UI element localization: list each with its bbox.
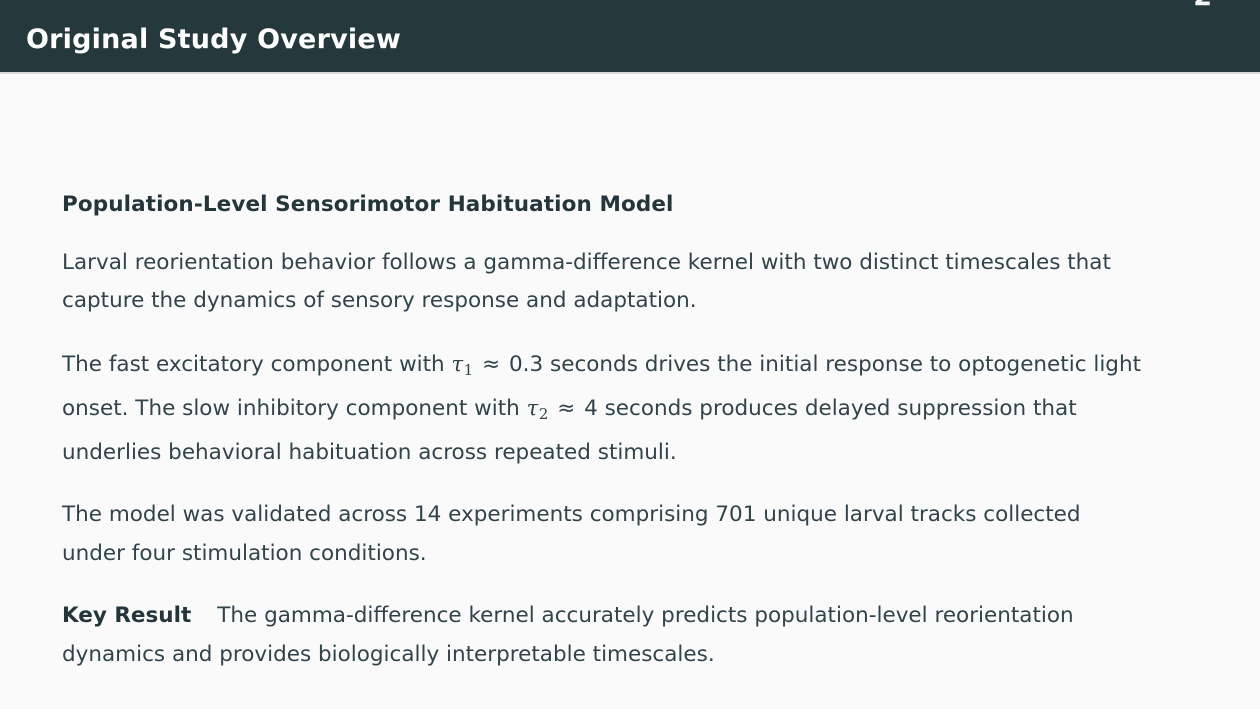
validation-text-1: The model was validated across [62, 502, 407, 527]
tau2-subscript: 2 [539, 405, 549, 423]
tau1-value: 0.3 [509, 352, 543, 377]
content-block: Population-Level Sensorimotor Habituatio… [62, 192, 1184, 674]
experiment-count: 14 [414, 502, 441, 527]
tau1-symbol: τ1 [452, 352, 474, 376]
page-title: Original Study Overview [26, 24, 401, 55]
slide-number: 2 [1193, 0, 1212, 10]
track-count: 701 [715, 502, 756, 527]
paragraph-intro: Larval reorientation behavior follows a … [62, 244, 1184, 321]
key-result-label: Key Result [62, 603, 191, 628]
key-result-text: The gamma-difference kernel accurately p… [62, 603, 1074, 667]
paragraph-timescales: The fast excitatory component with τ1 ≈ … [62, 345, 1164, 472]
paragraph-key-result: Key ResultThe gamma-difference kernel ac… [62, 597, 1148, 674]
tau2-value: 4 [584, 396, 598, 421]
validation-text-2: experiments comprising [448, 502, 708, 527]
slide-body: Population-Level Sensorimotor Habituatio… [0, 74, 1260, 709]
paragraph-validation: The model was validated across 14 experi… [62, 496, 1148, 573]
tau2-symbol: τ2 [527, 396, 549, 420]
tau1-glyph: τ [452, 352, 464, 376]
approx-sign-2: ≈ [555, 396, 577, 421]
frame-title-bar: Original Study Overview [0, 0, 1260, 74]
slide: Original Study Overview 2 Population-Lev… [0, 0, 1260, 709]
tau1-subscript: 1 [464, 361, 474, 379]
approx-sign-1: ≈ [480, 352, 502, 377]
tau2-glyph: τ [527, 396, 539, 420]
timescales-text-1: The fast excitatory component with [62, 352, 445, 377]
block-heading: Population-Level Sensorimotor Habituatio… [62, 192, 1184, 218]
paragraph-intro-text: Larval reorientation behavior follows a … [62, 250, 1111, 314]
